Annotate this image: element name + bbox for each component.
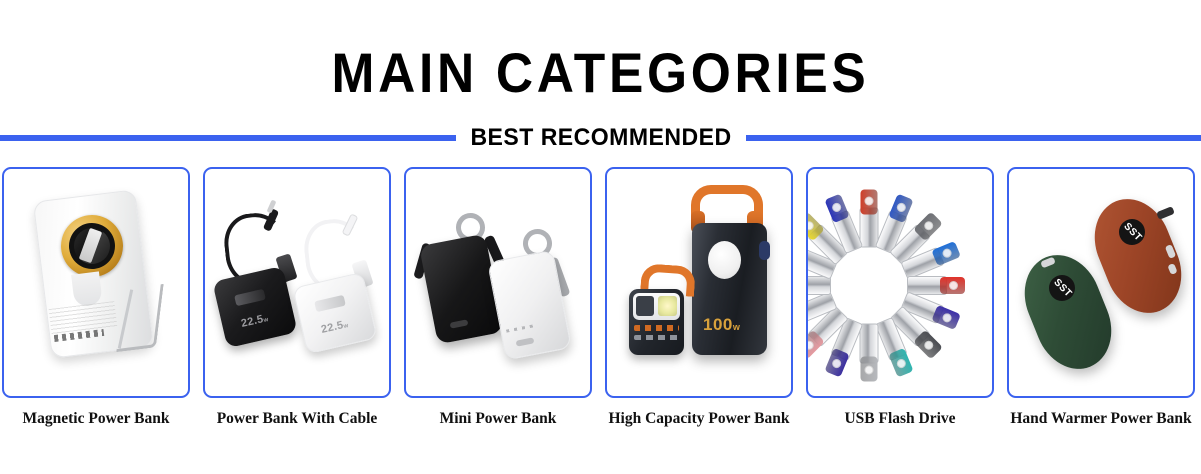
small-unit-lamp bbox=[658, 296, 677, 316]
usb-lanyard-hole bbox=[865, 365, 874, 374]
usb-flash-drive bbox=[860, 189, 879, 247]
magnetic-power-bank-photo bbox=[4, 169, 188, 396]
category-label: Hand Warmer Power Bank bbox=[1010, 410, 1191, 428]
product-image-frame[interactable]: 100w bbox=[605, 167, 793, 398]
divider-line-left bbox=[0, 135, 456, 141]
category-label: Magnetic Power Bank bbox=[23, 410, 170, 428]
subtitle-text: BEST RECOMMENDED bbox=[461, 125, 739, 151]
category-card-power-bank-with-cable[interactable]: 22.5w 22.5w Power Bank With Cable bbox=[203, 167, 391, 428]
usb-ports-row-two bbox=[634, 335, 679, 340]
subtitle-divider: BEST RECOMMENDED bbox=[0, 124, 1201, 152]
divider-line-right bbox=[746, 135, 1201, 141]
hand-warmer-power-bank-photo: SST SST bbox=[1009, 169, 1193, 396]
wattage-label: 100w bbox=[703, 315, 740, 335]
category-card-usb-flash-drive[interactable]: USB Flash Drive bbox=[806, 167, 994, 428]
category-card-grid: Magnetic Power Bank 22.5w 2 bbox=[2, 167, 1199, 428]
brand-logo-text: SST bbox=[1051, 277, 1073, 300]
category-card-hand-warmer-power-bank[interactable]: SST SST Hand Warmer Power Bank bbox=[1007, 167, 1195, 428]
page-title: MAIN CATEGORIES bbox=[48, 44, 1153, 102]
usb-swivel-cover bbox=[806, 240, 807, 265]
category-label: USB Flash Drive bbox=[844, 410, 955, 428]
mini-power-bank-photo bbox=[406, 169, 590, 396]
product-image-frame[interactable] bbox=[806, 167, 994, 398]
high-capacity-power-bank-photo: 100w bbox=[607, 169, 791, 396]
product-image-frame[interactable]: SST SST bbox=[1007, 167, 1195, 398]
power-bank-with-cable-photo: 22.5w 22.5w bbox=[205, 169, 389, 396]
usb-lanyard-hole bbox=[865, 196, 874, 205]
category-label: Power Bank With Cable bbox=[217, 410, 378, 428]
usb-swivel-cover bbox=[806, 304, 807, 329]
product-image-frame[interactable] bbox=[404, 167, 592, 398]
wattage-unit: w bbox=[733, 322, 741, 332]
usb-flash-drive bbox=[907, 276, 965, 295]
rust-unit-port bbox=[1156, 206, 1175, 220]
category-label: Mini Power Bank bbox=[440, 410, 557, 428]
white-power-bank-body bbox=[292, 272, 377, 354]
category-label: High Capacity Power Bank bbox=[609, 410, 790, 428]
white-wattage-unit: w bbox=[343, 323, 349, 330]
usb-flash-drive bbox=[860, 323, 879, 381]
product-image-frame[interactable]: 22.5w 22.5w bbox=[203, 167, 391, 398]
wattage-value: 100 bbox=[703, 315, 733, 334]
small-unit-screen bbox=[636, 296, 654, 316]
category-card-mini-power-bank[interactable]: Mini Power Bank bbox=[404, 167, 592, 428]
category-card-magnetic-power-bank[interactable]: Magnetic Power Bank bbox=[2, 167, 190, 428]
camping-lamp bbox=[708, 241, 741, 279]
black-wattage-unit: w bbox=[263, 317, 269, 324]
brand-logo-text: SST bbox=[1121, 221, 1143, 244]
product-image-frame[interactable] bbox=[2, 167, 190, 398]
category-card-high-capacity-power-bank[interactable]: 100w High Capacity Power Bank bbox=[605, 167, 793, 428]
usb-ports-row-one bbox=[634, 325, 679, 331]
usb-drive-cluster bbox=[808, 169, 994, 398]
black-power-bank-body bbox=[212, 266, 297, 348]
usb-flash-drive-photo bbox=[808, 169, 992, 396]
main-categories-banner: MAIN CATEGORIES BEST RECOMMENDED bbox=[0, 0, 1201, 474]
power-button bbox=[759, 241, 770, 260]
usb-lanyard-hole bbox=[949, 281, 958, 290]
